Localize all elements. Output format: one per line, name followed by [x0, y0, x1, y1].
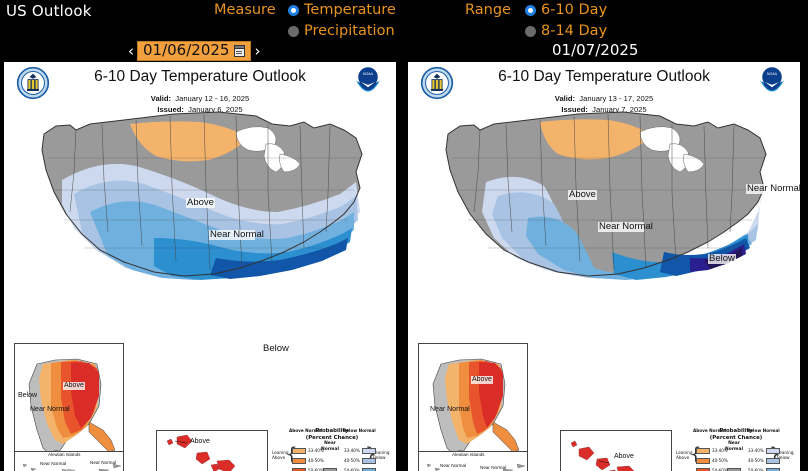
legend-swatch — [766, 458, 780, 464]
radio-6-10-day-label: 6-10 Day — [541, 3, 607, 18]
date-value: 01/06/2025 — [143, 43, 229, 58]
hawaii-label-above-1: Above — [189, 438, 211, 446]
hawaii-map — [561, 431, 673, 471]
probability-legend: Probability (Percent Chance) Above Norma… — [676, 428, 796, 471]
legend-swatch — [292, 448, 306, 454]
radio-temperature[interactable]: Temperature — [288, 3, 396, 18]
radio-off-icon[interactable] — [288, 26, 299, 37]
legend-bin-label: 33-40% — [712, 449, 728, 453]
legend-bin-label: 40-50% — [712, 459, 728, 463]
legend-swatch — [766, 448, 780, 454]
outlook-panel-left[interactable]: NOAA 6-10 Day Temperature Outlook Valid:… — [4, 62, 396, 471]
legend-bin-label: 33-40% — [748, 449, 764, 453]
legend-row-below-1: 40-50% — [344, 458, 376, 464]
calendar-icon[interactable] — [234, 45, 245, 57]
legend-row-above-1: 40-50% — [292, 458, 324, 464]
legend-row-above-0: 33-40% — [696, 448, 728, 454]
legend-row-below-0: 33-40% — [344, 448, 376, 454]
date-input[interactable]: 01/06/2025 — [137, 41, 251, 61]
header-bar: US Outlook Measure Temperature Precipita… — [0, 0, 808, 62]
aleutian-label-nn-west: Near Normal — [439, 464, 461, 469]
hawaii-map — [157, 431, 269, 471]
legend-below-header: Below Normal — [343, 428, 376, 433]
legend-row-above-0: 33-40% — [292, 448, 324, 454]
alaska-label-above: Above — [471, 376, 493, 384]
legend-bin-label: 40-50% — [308, 459, 324, 463]
radio-off-icon[interactable] — [525, 26, 536, 37]
aleutian-inset[interactable]: Aleutian Islands Near Normal Near Normal — [418, 451, 528, 471]
aleutian-label-nn-east: Near Normal — [479, 466, 501, 471]
alaska-label-below: Below — [17, 392, 38, 400]
outlook-panel-right[interactable]: NOAA 6-10 Day Temperature Outlook Valid:… — [408, 62, 800, 471]
legend-bin-label: 40-50% — [748, 459, 764, 463]
aleutian-label-nn-east: Near Normal — [89, 461, 111, 466]
legend-swatch — [696, 458, 710, 464]
legend-row-below-0: 33-40% — [748, 448, 780, 454]
map-label-below: Below — [708, 254, 736, 264]
radio-6-10-day[interactable]: 6-10 Day — [525, 3, 607, 18]
legend-row-above-1: 40-50% — [696, 458, 728, 464]
alaska-label-near-normal: Near Normal — [429, 406, 463, 414]
aleutian-title: Aleutian Islands — [47, 453, 81, 458]
radio-precipitation[interactable]: Precipitation — [288, 24, 395, 39]
legend-bin-label: 40-50% — [344, 459, 360, 463]
legend-above-header: Above Normal — [693, 428, 726, 433]
page-title: US Outlook — [6, 2, 92, 20]
map-label-near-normal-ne: Near Normal — [746, 184, 786, 194]
hawaii-inset[interactable]: Above Above — [156, 430, 268, 471]
legend-bin-label: 33-40% — [344, 449, 360, 453]
radio-on-icon[interactable] — [525, 5, 536, 16]
legend-row-below-1: 40-50% — [748, 458, 780, 464]
radio-8-14-day[interactable]: 8-14 Day — [525, 24, 607, 39]
legend-below-header: Below Normal — [747, 428, 780, 433]
radio-temperature-label: Temperature — [304, 3, 396, 18]
legend-swatch — [696, 448, 710, 454]
prev-date-button[interactable]: ‹ — [125, 44, 137, 59]
date-right-value: 01/07/2025 — [552, 41, 638, 59]
range-label: Range — [465, 2, 511, 18]
radio-8-14-day-label: 8-14 Day — [541, 24, 607, 39]
radio-precipitation-label: Precipitation — [304, 24, 395, 39]
map-label-above: Above — [186, 198, 215, 208]
alaska-label-near-normal: Near Normal — [29, 406, 63, 414]
aleutian-inset[interactable]: Aleutian Islands Near Normal Below Near … — [14, 451, 124, 471]
measure-label: Measure — [214, 2, 276, 18]
date-picker[interactable]: ‹ 01/06/2025 › — [125, 41, 263, 61]
hawaii-inset[interactable]: Above Above — [560, 430, 672, 471]
map-label-below: Below — [262, 344, 290, 354]
legend-swatch — [292, 458, 306, 464]
aleutian-label-nn-west: Near Normal — [39, 462, 61, 467]
next-date-button[interactable]: › — [251, 44, 263, 59]
legend-swatch — [362, 448, 376, 454]
probability-legend: Probability (Percent Chance) Above Norma… — [272, 428, 392, 471]
hawaii-label-above-1: Above — [613, 453, 635, 461]
aleutian-title: Aleutian Islands — [451, 453, 485, 458]
map-label-near-normal: Near Normal — [598, 222, 644, 232]
map-label-near-normal: Near Normal — [209, 230, 255, 240]
map-label-above: Above — [568, 190, 597, 200]
radio-on-icon[interactable] — [288, 5, 299, 16]
legend-swatch — [362, 458, 376, 464]
us-outlook-app: US Outlook Measure Temperature Precipita… — [0, 0, 808, 471]
legend-above-header: Above Normal — [289, 428, 322, 433]
legend-bin-label: 33-40% — [308, 449, 324, 453]
alaska-label-above: Above — [63, 382, 85, 390]
